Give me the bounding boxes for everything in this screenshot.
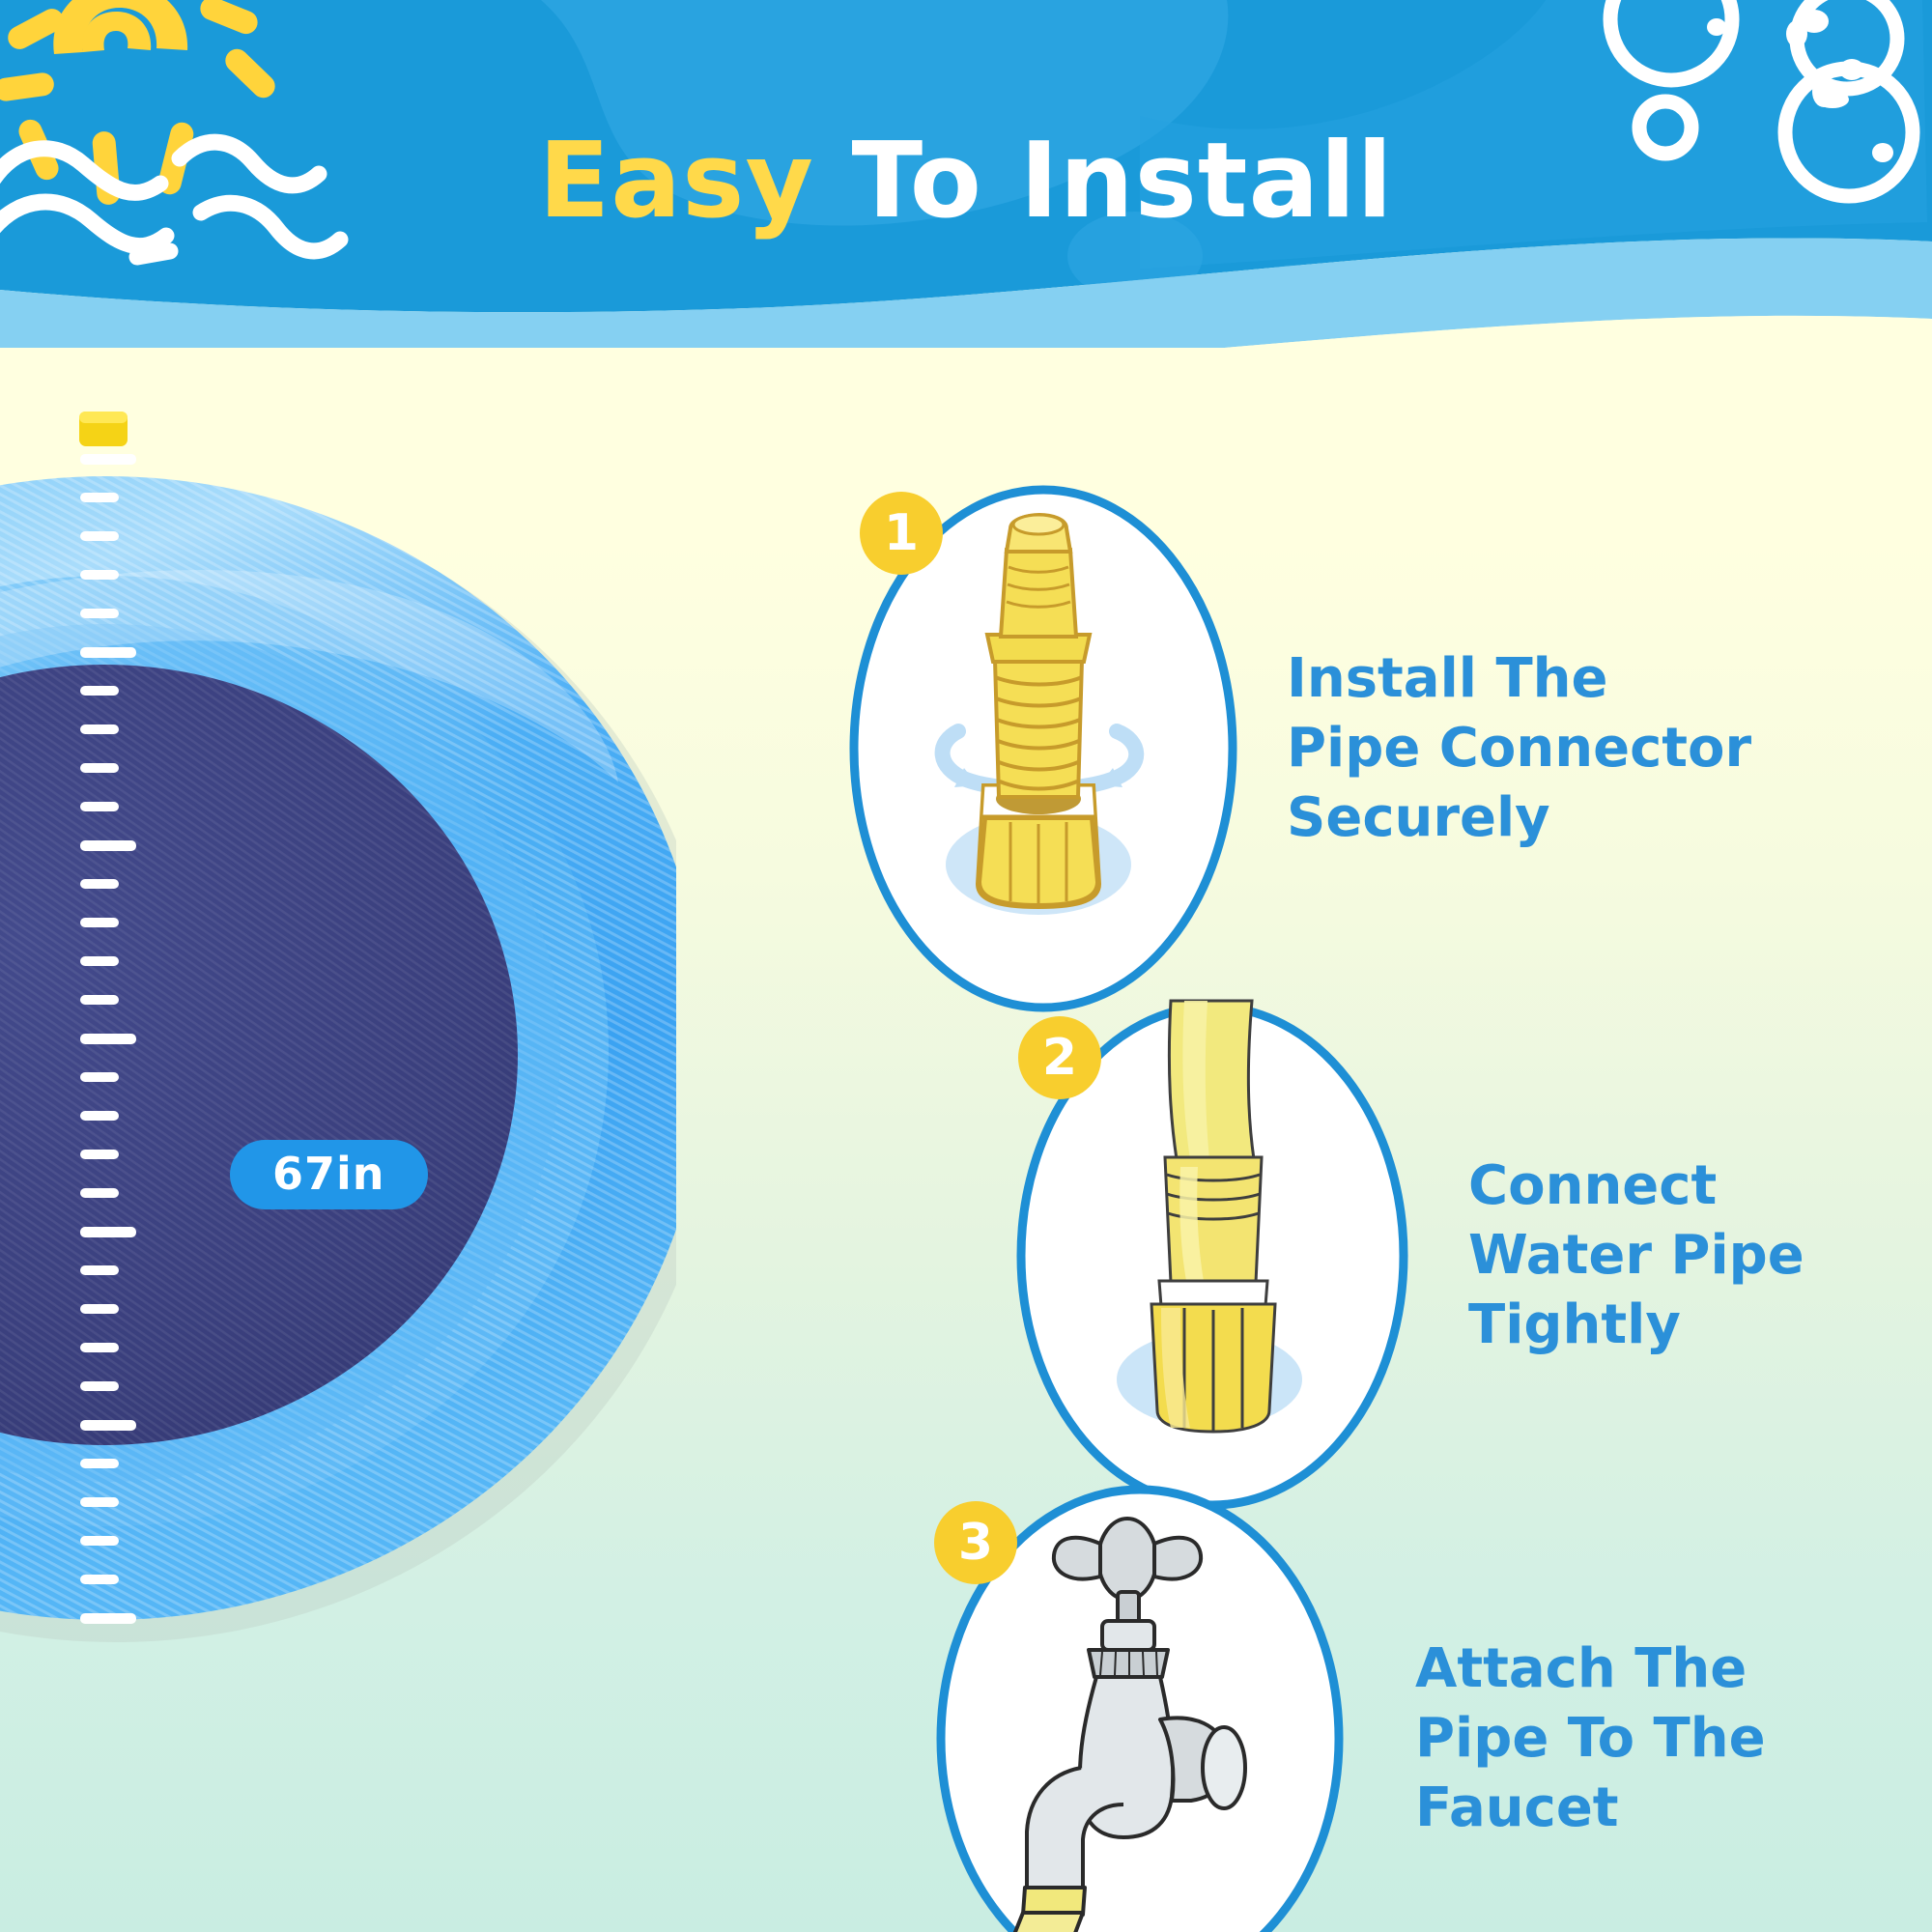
valve-icon xyxy=(79,412,128,446)
step-1-illustration: 1 xyxy=(840,478,1246,1019)
title-rest: To Install xyxy=(851,121,1393,241)
step-1-number: 1 xyxy=(860,492,943,575)
step-3-number: 3 xyxy=(934,1501,1017,1584)
size-badge: 67in xyxy=(230,1140,428,1209)
step-2-number: 2 xyxy=(1018,1016,1101,1099)
infographic-page: Easy To Install xyxy=(0,0,1932,1932)
page-title: Easy To Install xyxy=(0,129,1932,234)
header-banner: Easy To Install xyxy=(0,0,1932,348)
step-2: 2 Connect Water Pipe Tightly xyxy=(1005,995,1804,1517)
title-highlight: Easy xyxy=(539,121,852,241)
step-1: 1 Install The Pipe Connector Securely xyxy=(840,478,1751,1019)
step-3-label: Attach The Pipe To The Faucet xyxy=(1415,1634,1766,1842)
step-2-label: Connect Water Pipe Tightly xyxy=(1468,1151,1804,1359)
step-2-illustration: 2 xyxy=(1005,995,1420,1517)
splash-pad-product xyxy=(0,435,676,1671)
step-3: 3 Attach The Pipe To The Faucet xyxy=(913,1478,1766,1932)
step-3-illustration: 3 xyxy=(913,1478,1367,1932)
step-1-label: Install The Pipe Connector Securely xyxy=(1287,644,1751,852)
